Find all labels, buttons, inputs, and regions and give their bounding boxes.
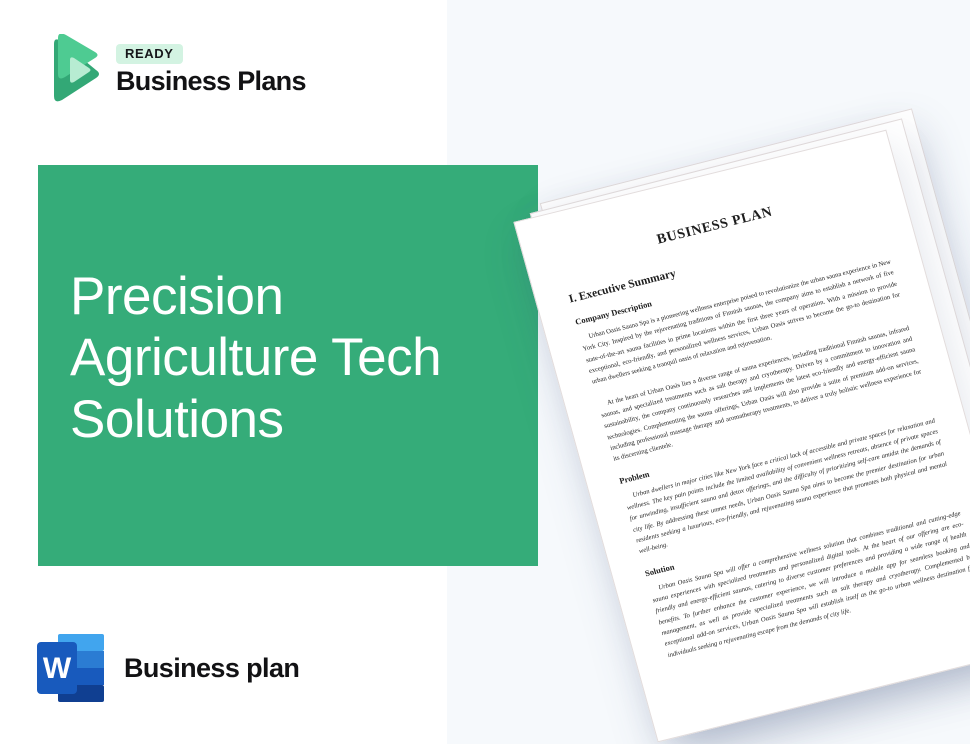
svg-text:W: W bbox=[43, 652, 72, 685]
file-type-row[interactable]: W Business plan bbox=[36, 632, 299, 704]
ready-badge: READY bbox=[116, 44, 183, 64]
file-type-label: Business plan bbox=[124, 653, 299, 684]
document-preview[interactable]: BUSINESS PLAN I. Executive Summary Compa… bbox=[430, 70, 970, 730]
brand-text-group: READY Business Plans bbox=[116, 44, 306, 95]
document-page-front[interactable]: BUSINESS PLAN I. Executive Summary Compa… bbox=[513, 130, 970, 743]
brand-name: Business Plans bbox=[116, 67, 306, 95]
play-triangle-logo-icon bbox=[40, 34, 102, 106]
microsoft-word-icon: W bbox=[36, 632, 104, 704]
brand-logo[interactable]: READY Business Plans bbox=[40, 34, 306, 106]
